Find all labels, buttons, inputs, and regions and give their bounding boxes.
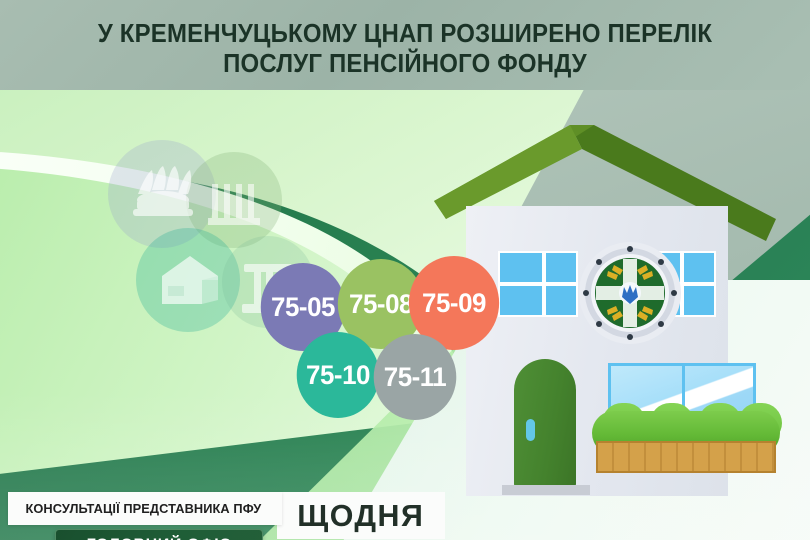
door-step <box>502 485 590 495</box>
window-upper-left <box>498 251 544 284</box>
office-title: ГОЛОВНИЙ ОФІС <box>59 535 259 540</box>
illustration-stage: 75-05 75-08 75-09 75-10 75-11 ЩОДНЯ КОНС… <box>0 88 810 540</box>
consultation-label: КОНСУЛЬТАЦІЇ ПРЕДСТАВНИКА ПФУ <box>8 501 261 516</box>
service-code-label: 75-08 <box>349 289 413 320</box>
header-band: У КРЕМЕНЧУЦЬКОМУ ЦНАП РОЗШИРЕНО ПЕРЕЛІК … <box>0 0 810 90</box>
service-code-label: 75-09 <box>422 288 486 319</box>
bank-columns-icon <box>206 178 262 234</box>
service-code-bubble-75-10[interactable]: 75-10 <box>297 332 380 418</box>
window-upper-right-2 <box>682 284 716 317</box>
house-outline-icon <box>152 246 228 318</box>
page-title: У КРЕМЕНЧУЦЬКОМУ ЦНАП РОЗШИРЕНО ПЕРЕЛІК … <box>24 19 785 79</box>
window-upper-right <box>682 251 716 284</box>
window-upper-left-3 <box>544 251 578 284</box>
door-handle <box>526 419 535 441</box>
consultation-banner: КОНСУЛЬТАЦІЇ ПРЕДСТАВНИКА ПФУ <box>8 492 282 525</box>
wreath-icon <box>128 164 198 220</box>
service-code-bubble-75-11[interactable]: 75-11 <box>374 334 457 420</box>
window-upper-left-4 <box>544 284 578 317</box>
service-code-label: 75-05 <box>271 292 335 323</box>
service-code-label: 75-10 <box>306 360 370 391</box>
frequency-label: ЩОДНЯ <box>298 498 425 534</box>
house-planter <box>596 441 776 473</box>
pension-fund-emblem <box>578 241 682 345</box>
window-upper-left-2 <box>498 284 544 317</box>
house-door <box>514 359 576 487</box>
office-info-box: ГОЛОВНИЙ ОФІС вул. Покровська, 14 (каб. … <box>55 529 263 540</box>
service-code-label: 75-11 <box>384 362 446 393</box>
infographic-poster: У КРЕМЕНЧУЦЬКОМУ ЦНАП РОЗШИРЕНО ПЕРЕЛІК … <box>0 0 810 540</box>
frequency-banner: ЩОДНЯ <box>277 492 445 539</box>
